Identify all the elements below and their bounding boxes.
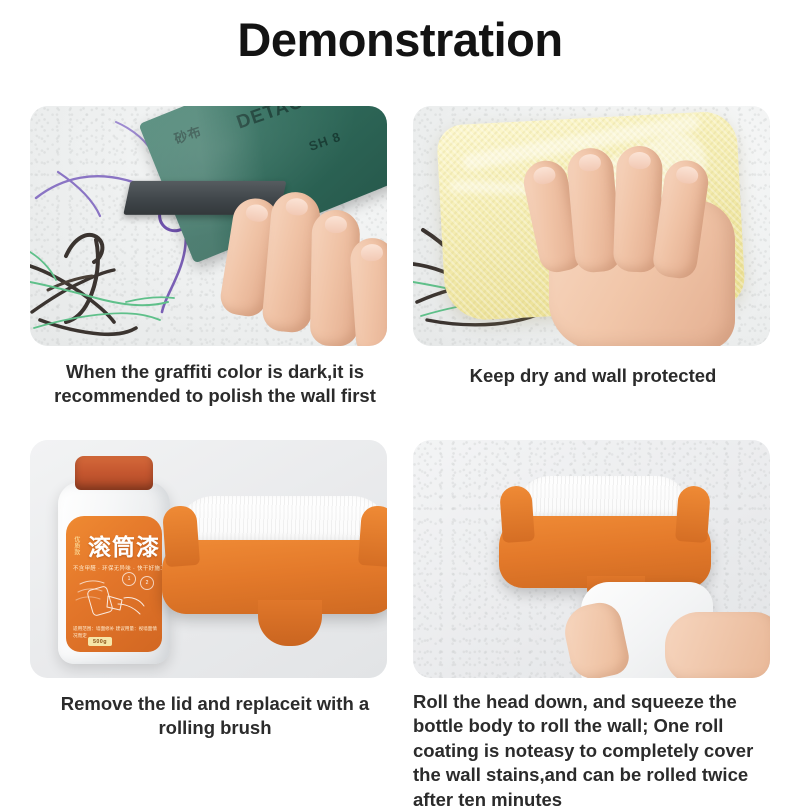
fingernail	[675, 165, 699, 185]
label-title: 滚筒漆	[88, 536, 160, 559]
step-4-caption-line: bottle body to roll the wall; One roll	[413, 714, 783, 738]
step-1-caption: When the graffiti color is dark,it is re…	[30, 360, 400, 409]
wiping-cloth-photo	[413, 106, 770, 346]
hand	[209, 192, 387, 346]
step-4-caption-line: Roll the head down, and squeeze the	[413, 690, 783, 714]
bottle-label: 优质款 滚筒漆 不含甲醛 · 环保无异味 · 快干好施工 · 遮盖力强	[66, 516, 162, 652]
roller-brush-head	[162, 492, 387, 652]
roller-arm-right	[358, 505, 387, 567]
hand	[509, 134, 759, 346]
demo-step-1: DETAOC 砂布 细砂 SH 8 When the graffiti colo…	[30, 106, 400, 409]
fingernail	[245, 203, 269, 223]
roller-neck	[258, 600, 322, 646]
label-weight-badge: 500g	[88, 637, 112, 646]
bottle-and-roller-photo: 优质款 滚筒漆 不含甲醛 · 环保无异味 · 快干好施工 · 遮盖力强	[30, 440, 387, 678]
page-title: Demonstration	[0, 16, 800, 63]
label-subtitle: 不含甲醛 · 环保无异味 · 快干好施工 · 遮盖力强	[73, 564, 157, 572]
step-4-caption-line: the wall stains,and can be rolled twice	[413, 763, 783, 787]
fingernail	[325, 216, 347, 233]
roller-arm-right	[675, 485, 711, 543]
step-4-caption: Roll the head down, and squeeze the bott…	[413, 690, 783, 812]
fingernail	[532, 165, 557, 186]
fingernail	[578, 153, 601, 172]
label-weight-text: 500g	[93, 639, 107, 645]
fingernail	[360, 243, 383, 261]
roller-arm-left	[499, 485, 535, 543]
step-4-caption-line: coating is noteasy to completely cover	[413, 739, 783, 763]
hand	[561, 590, 770, 678]
rolling-on-wall-photo	[413, 440, 770, 678]
bottle-cap	[75, 456, 153, 490]
label-side-text: 优质款	[72, 536, 79, 556]
finger	[349, 237, 387, 346]
roller-arm-left	[162, 505, 200, 567]
fingernail	[285, 197, 308, 216]
demo-step-3: 优质款 滚筒漆 不含甲醛 · 环保无异味 · 快干好施工 · 遮盖力强	[30, 440, 400, 741]
label-footer: 适用范围：墙面修补 建议用量：视墙面情况而定	[73, 626, 157, 640]
paint-bottle: 优质款 滚筒漆 不含甲醛 · 环保无异味 · 快干好施工 · 遮盖力强	[58, 456, 170, 664]
fingernail	[628, 152, 651, 170]
demo-step-2: Keep dry and wall protected	[413, 106, 773, 388]
label-icon-1: 1	[122, 572, 136, 586]
label-icon-2: 2	[140, 576, 154, 590]
step-2-caption: Keep dry and wall protected	[413, 364, 773, 388]
thumb	[560, 599, 632, 678]
demo-step-4: Roll the head down, and squeeze the bott…	[413, 440, 783, 812]
knuckles	[665, 612, 770, 678]
demonstration-grid: DETAOC 砂布 细砂 SH 8 When the graffiti colo…	[0, 100, 800, 800]
sanding-wall-photo: DETAOC 砂布 细砂 SH 8	[30, 106, 387, 346]
step-3-caption: Remove the lid and replaceit with a roll…	[30, 692, 400, 741]
